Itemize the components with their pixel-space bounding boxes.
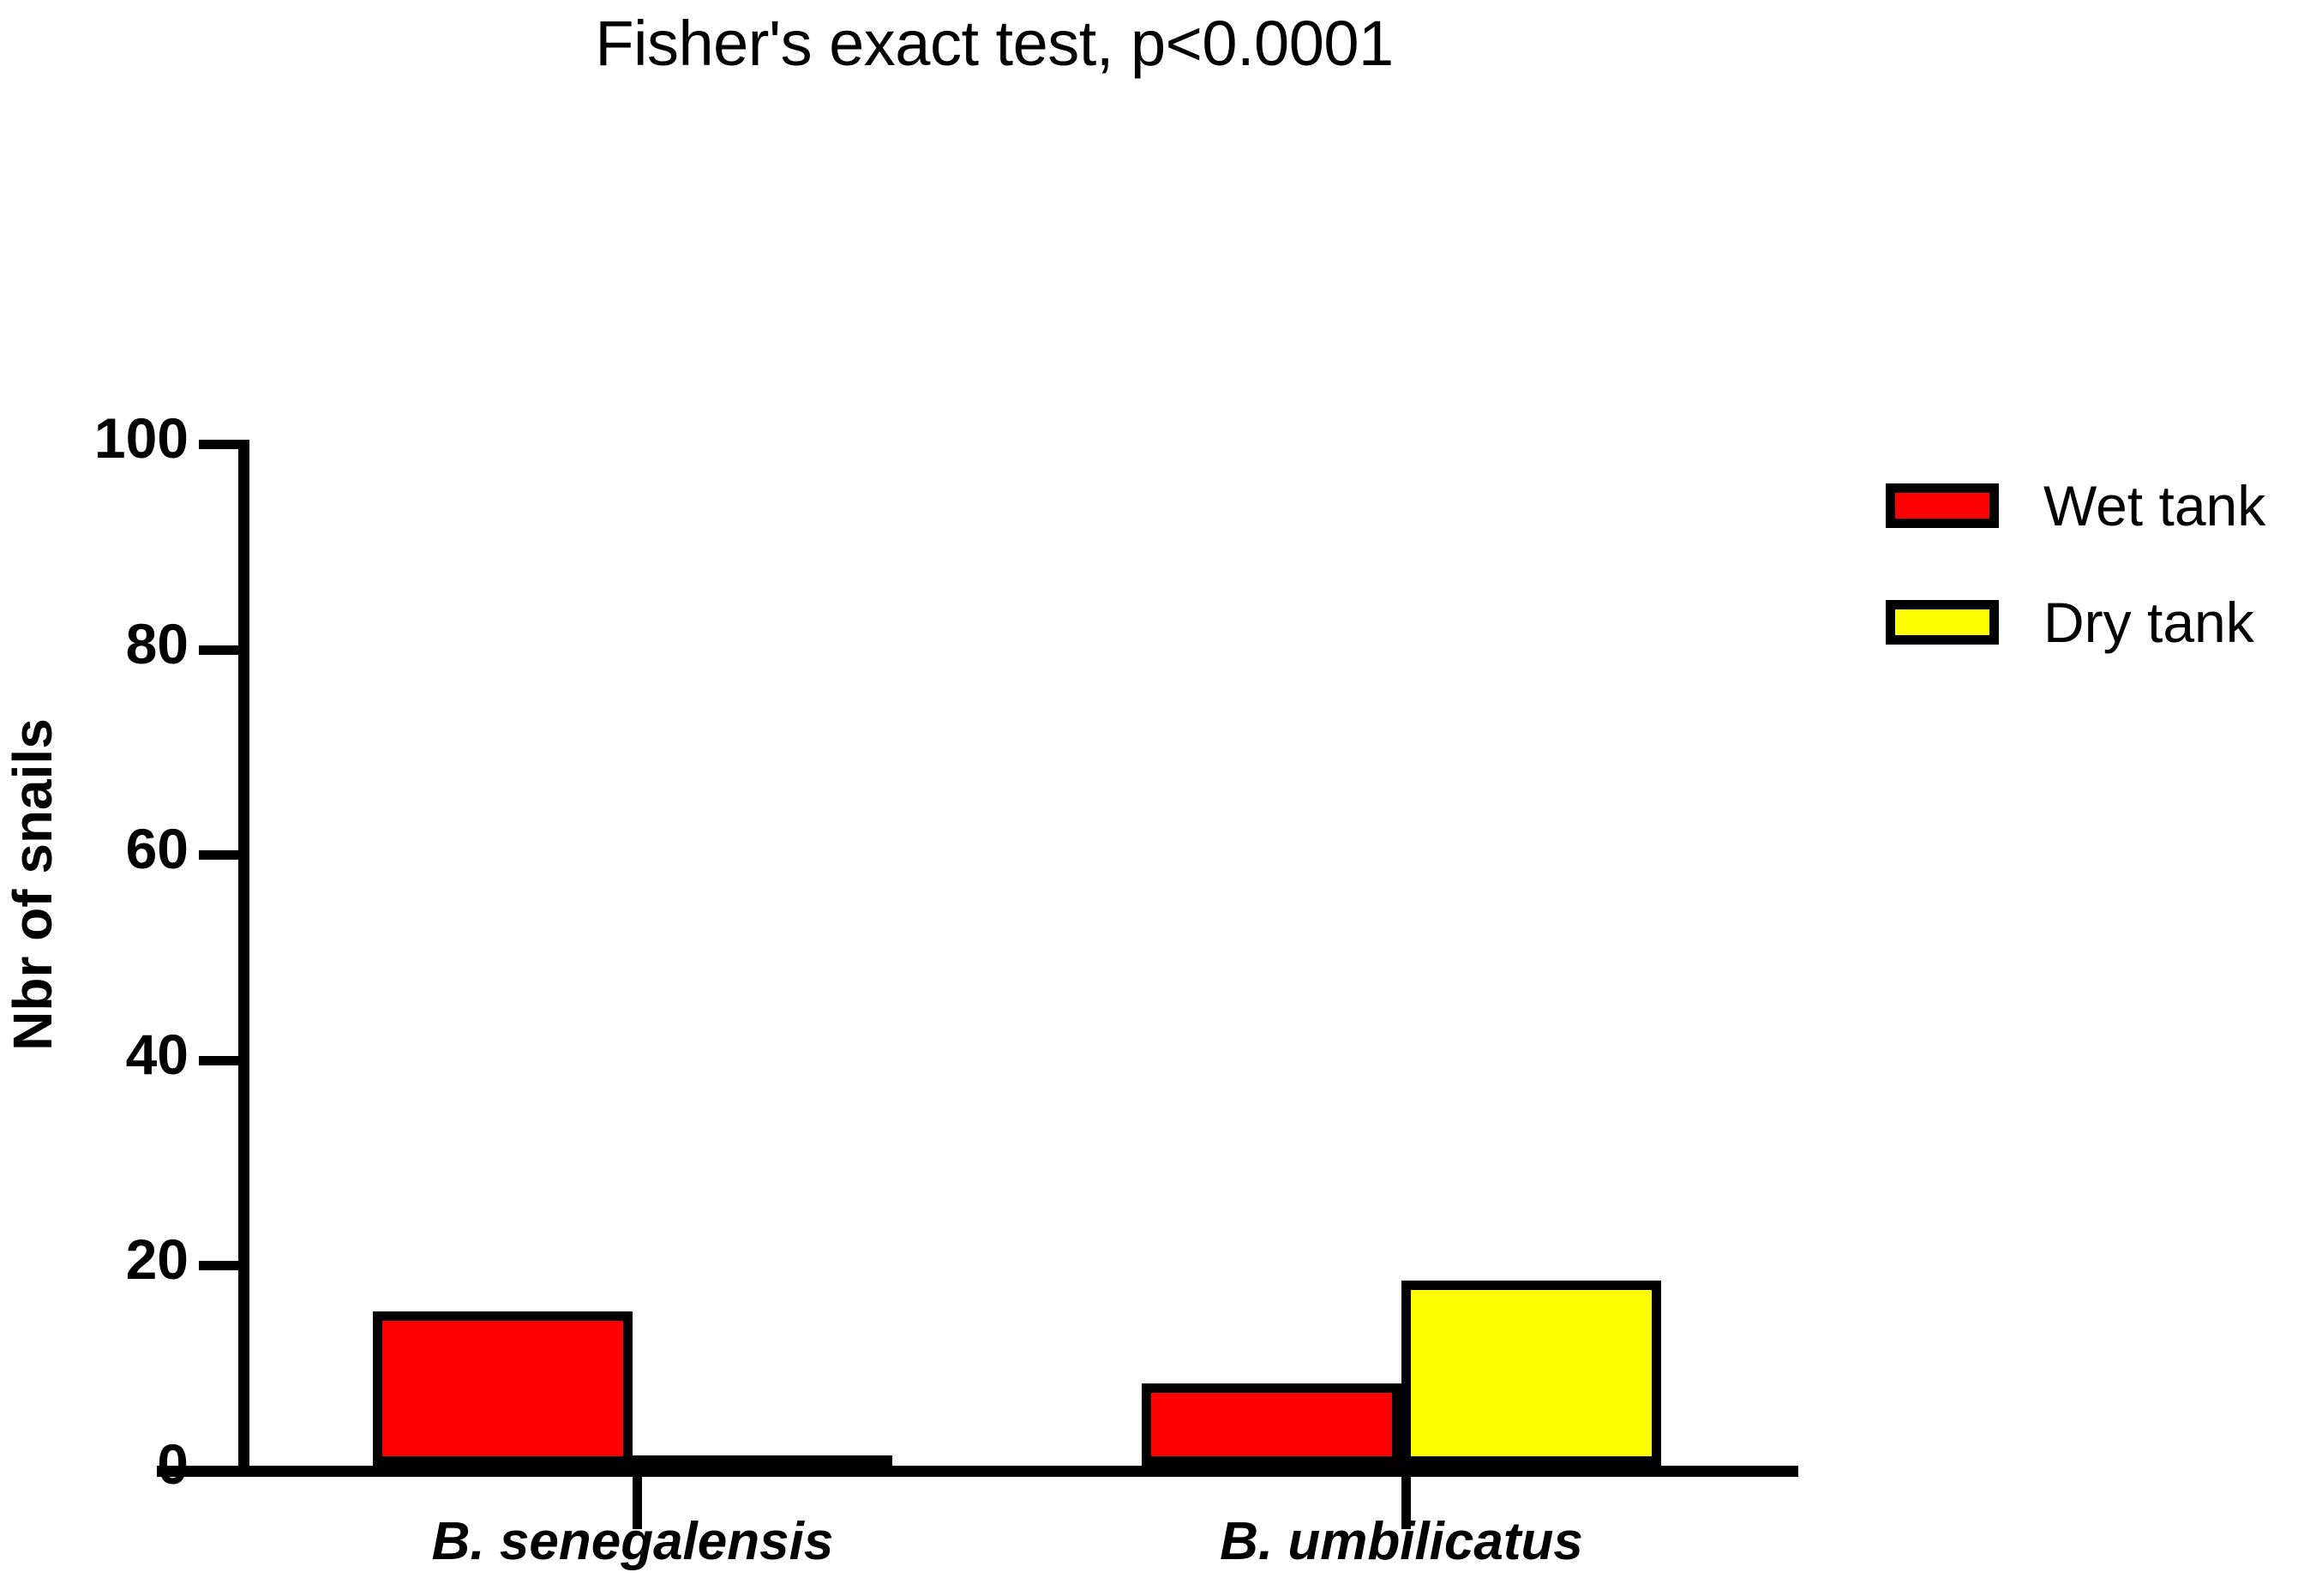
x-category-label-senegalensis: B. senegalensis	[375, 1515, 890, 1569]
chart-legend: Wet tank Dry tank	[1886, 463, 2289, 696]
x-category-label-umbilicatus: B. umbilicatus	[1144, 1515, 1659, 1569]
y-tick-80	[199, 645, 242, 655]
bar-senegalensis-wet[interactable]	[373, 1311, 633, 1466]
bar-umbilicatus-dry[interactable]	[1401, 1281, 1661, 1466]
y-tick-60	[199, 850, 242, 860]
y-tick-20	[199, 1261, 242, 1270]
bar-umbilicatus-wet[interactable]	[1142, 1383, 1401, 1466]
legend-swatch-dry-tank	[1886, 600, 1999, 645]
y-axis-line	[238, 440, 249, 1476]
legend-label-dry-tank: Dry tank	[2043, 594, 2254, 651]
legend-label-wet-tank: Wet tank	[2043, 477, 2265, 534]
legend-swatch-wet-tank	[1886, 483, 1999, 528]
legend-item-dry-tank[interactable]: Dry tank	[1886, 579, 2289, 665]
y-tick-label-0: 0	[26, 1436, 189, 1492]
bar-senegalensis-dry[interactable]	[633, 1455, 892, 1474]
y-tick-label-100: 100	[26, 410, 189, 466]
plot-area: 100 80 60 40 20 0 Nbr of snails B. seneg…	[0, 0, 1886, 1596]
legend-item-wet-tank[interactable]: Wet tank	[1886, 463, 2289, 549]
y-tick-100	[199, 440, 242, 449]
y-tick-0	[199, 1466, 242, 1475]
y-tick-label-20: 20	[26, 1231, 189, 1287]
x-axis-line	[157, 1466, 1798, 1477]
y-tick-label-80: 80	[26, 615, 189, 672]
y-axis-title: Nbr of snails	[5, 705, 60, 1065]
y-tick-40	[199, 1056, 242, 1065]
